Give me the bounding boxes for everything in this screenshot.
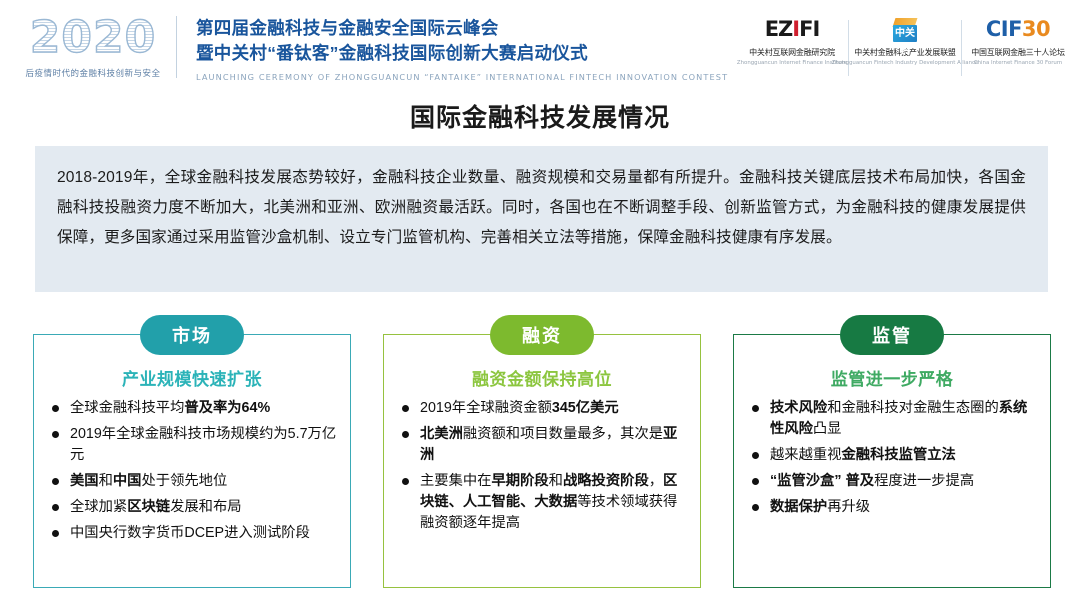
event-year-tagline: 后疫情时代的金融科技创新与安全: [25, 67, 160, 79]
cards-row: 市场 产业规模快速扩张 全球金融科技平均普及率为64% 2019年全球金融科技市…: [0, 334, 1080, 592]
card-market-badge: 市场: [140, 315, 244, 355]
list-item: 全球加紧区块链发展和布局: [48, 497, 340, 518]
card-financing: 融资 融资金额保持高位 2019年全球融资金额345亿美元 北美洲融资额和项目数…: [383, 334, 701, 588]
event-title-line2: 暨中关村“番钛客”金融科技国际创新大赛启动仪式: [196, 41, 696, 66]
list-item: 2019年全球融资金额345亿美元: [398, 398, 690, 419]
slide-root: 2020 后疫情时代的金融科技创新与安全 第四届金融科技与金融安全国际云峰会 暨…: [0, 0, 1080, 608]
cif30-mark-part2: 30: [1022, 17, 1050, 41]
logo-cif30-en: China Internet Finance 30 Forum: [974, 60, 1062, 66]
cif30-mark-part1: CIF: [986, 17, 1022, 41]
page-title: 国际金融科技发展情况: [0, 98, 1080, 134]
ezifi-mark-icon: EZIFI: [765, 16, 820, 43]
list-item: 主要集中在早期阶段和战略投资阶段，区块链、人工智能、大数据等技术领域获得融资额逐…: [398, 471, 690, 534]
logo-cif30-cn: 中国互联网金融三十人论坛: [971, 47, 1065, 58]
list-item: 越来越重视金融科技监管立法: [748, 445, 1040, 466]
list-item: 全球金融科技平均普及率为64%: [48, 398, 340, 419]
summary-panel: 2018-2019年，全球金融科技发展态势较好，金融科技企业数量、融资规模和交易…: [35, 146, 1048, 292]
partner-logos: EZIFI 中关村互联网金融研究院 Zhongguancun Internet …: [736, 16, 1074, 76]
event-title-group: 第四届金融科技与金融安全国际云峰会 暨中关村“番钛客”金融科技国际创新大赛启动仪…: [196, 16, 696, 82]
card-financing-badge: 融资: [490, 315, 594, 355]
list-item: 北美洲融资额和项目数量最多，其次是亚洲: [398, 424, 690, 466]
event-year-logo: 2020 后疫情时代的金融科技创新与安全: [18, 14, 168, 84]
list-item: 2019年全球金融科技市场规模约为5.7万亿元: [48, 424, 340, 466]
card-financing-heading: 融资金额保持高位: [384, 365, 700, 390]
logo-zgc-alliance: 中关村 中关村金融科技产业发展联盟 Zhongguancun Fintech I…: [849, 16, 961, 66]
list-item: 中国央行数字货币DCEP进入测试阶段: [48, 523, 340, 544]
card-regulation-heading: 监管进一步严格: [734, 365, 1050, 390]
card-regulation: 监管 监管进一步严格 技术风险和金融科技对金融生态圈的系统性风险凸显 越来越重视…: [733, 334, 1051, 588]
card-market: 市场 产业规模快速扩张 全球金融科技平均普及率为64% 2019年全球金融科技市…: [33, 334, 351, 588]
list-item: “监管沙盒” 普及程度进一步提高: [748, 471, 1040, 492]
header-divider: [176, 16, 177, 78]
summary-text: 2018-2019年，全球金融科技发展态势较好，金融科技企业数量、融资规模和交易…: [57, 163, 1026, 253]
list-item: 美国和中国处于领先地位: [48, 471, 340, 492]
cif30-mark-icon: CIF30: [986, 16, 1050, 43]
list-item: 数据保护再升级: [748, 497, 1040, 518]
logo-ezifi-en: Zhongguancun Internet Finance Institute: [737, 60, 847, 66]
event-title-line1: 第四届金融科技与金融安全国际云峰会: [196, 16, 696, 41]
card-regulation-bullets: 技术风险和金融科技对金融生态圈的系统性风险凸显 越来越重视金融科技监管立法 “监…: [734, 398, 1050, 518]
event-year-text: 2020: [30, 14, 156, 62]
logo-ezifi: EZIFI 中关村互联网金融研究院 Zhongguancun Internet …: [736, 16, 848, 66]
ezifi-mark-part3: FI: [799, 17, 819, 41]
card-financing-bullets: 2019年全球融资金额345亿美元 北美洲融资额和项目数量最多，其次是亚洲 主要…: [384, 398, 700, 534]
logo-ezifi-cn: 中关村互联网金融研究院: [749, 47, 835, 58]
event-title-english: LAUNCHING CEREMONY OF ZHONGGUANCUN “FANT…: [196, 72, 696, 82]
card-market-bullets: 全球金融科技平均普及率为64% 2019年全球金融科技市场规模约为5.7万亿元 …: [34, 398, 350, 544]
card-market-heading: 产业规模快速扩张: [34, 365, 350, 390]
logo-zgc-en: Zhongguancun Fintech Industry Developmen…: [832, 60, 979, 66]
slide-header: 2020 后疫情时代的金融科技创新与安全 第四届金融科技与金融安全国际云峰会 暨…: [0, 0, 1080, 92]
ezifi-mark-part1: EZ: [765, 17, 793, 41]
zgc-cube-icon: 中关村: [892, 16, 918, 43]
card-regulation-badge: 监管: [840, 315, 944, 355]
zgc-cube-glyph: 中关村: [892, 25, 918, 42]
list-item: 技术风险和金融科技对金融生态圈的系统性风险凸显: [748, 398, 1040, 440]
logo-cif30: CIF30 中国互联网金融三十人论坛 China Internet Financ…: [962, 16, 1074, 66]
